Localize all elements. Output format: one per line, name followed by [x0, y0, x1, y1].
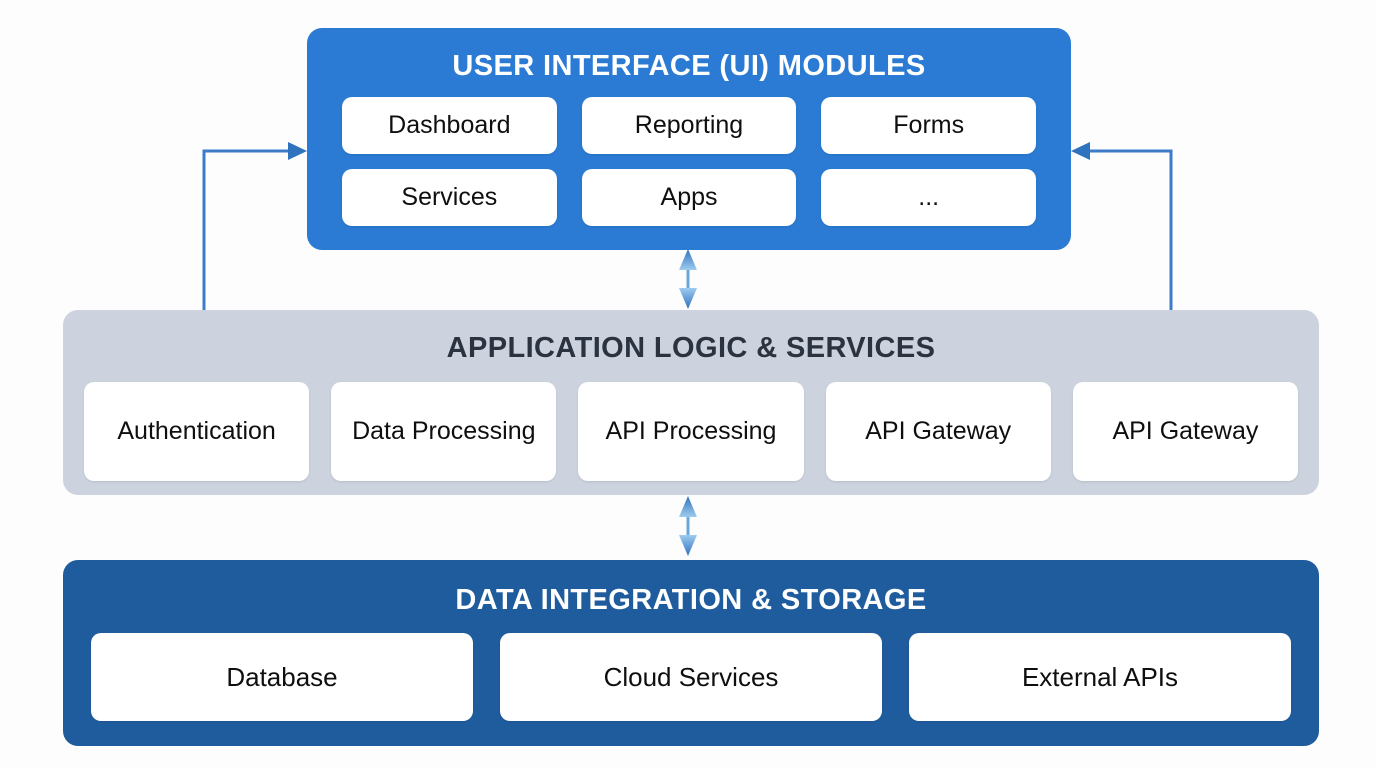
layer-title-user-interface: USER INTERFACE (UI) MODULES [452, 50, 925, 83]
connector-right-feedback [1071, 142, 1171, 312]
ui-card-row-2: Services Apps ... [342, 169, 1036, 226]
architecture-diagram: USER INTERFACE (UI) MODULES Dashboard Re… [0, 0, 1376, 768]
layer-user-interface: USER INTERFACE (UI) MODULES Dashboard Re… [307, 28, 1071, 250]
data-card-database[interactable]: Database [91, 633, 473, 721]
data-card-external-apis[interactable]: External APIs [909, 633, 1291, 721]
connector-left-feedback [204, 142, 307, 312]
logic-card-row: Authentication Data Processing API Proce… [84, 382, 1298, 481]
module-card-more[interactable]: ... [821, 169, 1036, 226]
data-card-row: Database Cloud Services External APIs [84, 633, 1298, 721]
module-card-forms[interactable]: Forms [821, 97, 1036, 154]
layer-data-integration: DATA INTEGRATION & STORAGE Database Clou… [63, 560, 1319, 746]
service-card-api-gateway-1[interactable]: API Gateway [826, 382, 1051, 481]
connector-logic-data [679, 496, 697, 556]
module-card-dashboard[interactable]: Dashboard [342, 97, 557, 154]
layer-application-logic: APPLICATION LOGIC & SERVICES Authenticat… [63, 310, 1319, 495]
service-card-authentication[interactable]: Authentication [84, 382, 309, 481]
connector-ui-logic [679, 249, 697, 309]
service-card-data-processing[interactable]: Data Processing [331, 382, 556, 481]
ui-card-row-1: Dashboard Reporting Forms [342, 97, 1036, 154]
layer-title-data-integration: DATA INTEGRATION & STORAGE [455, 584, 926, 617]
module-card-apps[interactable]: Apps [582, 169, 797, 226]
module-card-reporting[interactable]: Reporting [582, 97, 797, 154]
service-card-api-processing[interactable]: API Processing [578, 382, 803, 481]
service-card-api-gateway-2[interactable]: API Gateway [1073, 382, 1298, 481]
layer-title-application-logic: APPLICATION LOGIC & SERVICES [447, 332, 936, 365]
data-card-cloud-services[interactable]: Cloud Services [500, 633, 882, 721]
module-card-services[interactable]: Services [342, 169, 557, 226]
